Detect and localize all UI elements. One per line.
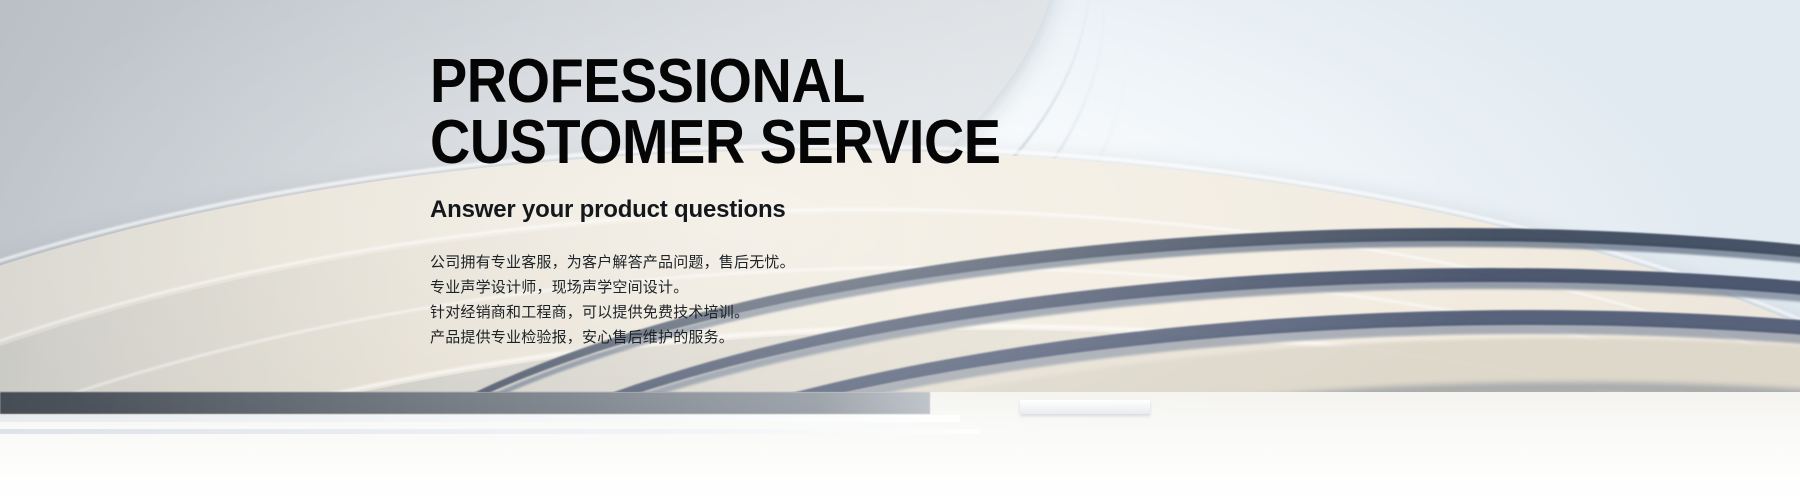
banner-subheadline: Answer your product questions <box>430 196 1250 224</box>
floor-edge-line-2 <box>0 429 980 434</box>
banner-body-copy: 公司拥有专业客服，为客户解答产品问题，售后无忧。 专业声学设计师，现场声学空间设… <box>430 250 1250 350</box>
banner-headline: PROFESSIONAL CUSTOMER SERVICE <box>430 52 1168 174</box>
floor-edge-line-1 <box>0 415 960 422</box>
customer-service-banner: PROFESSIONAL CUSTOMER SERVICE Answer you… <box>0 0 1800 500</box>
body-copy-line: 专业声学设计师，现场声学空间设计。 <box>430 275 1250 300</box>
banner-text-content: PROFESSIONAL CUSTOMER SERVICE Answer you… <box>430 52 1250 350</box>
body-copy-line: 公司拥有专业客服，为客户解答产品问题，售后无忧。 <box>430 250 1250 275</box>
body-copy-line: 产品提供专业检验报，安心售后维护的服务。 <box>430 325 1250 350</box>
floor-stripe-group <box>880 396 1800 500</box>
body-copy-line: 针对经销商和工程商，可以提供免费技术培训。 <box>430 300 1250 325</box>
headline-line-1: PROFESSIONAL <box>430 47 865 116</box>
headline-line-2: CUSTOMER SERVICE <box>430 113 1168 174</box>
floor-shadow-band <box>0 392 930 414</box>
